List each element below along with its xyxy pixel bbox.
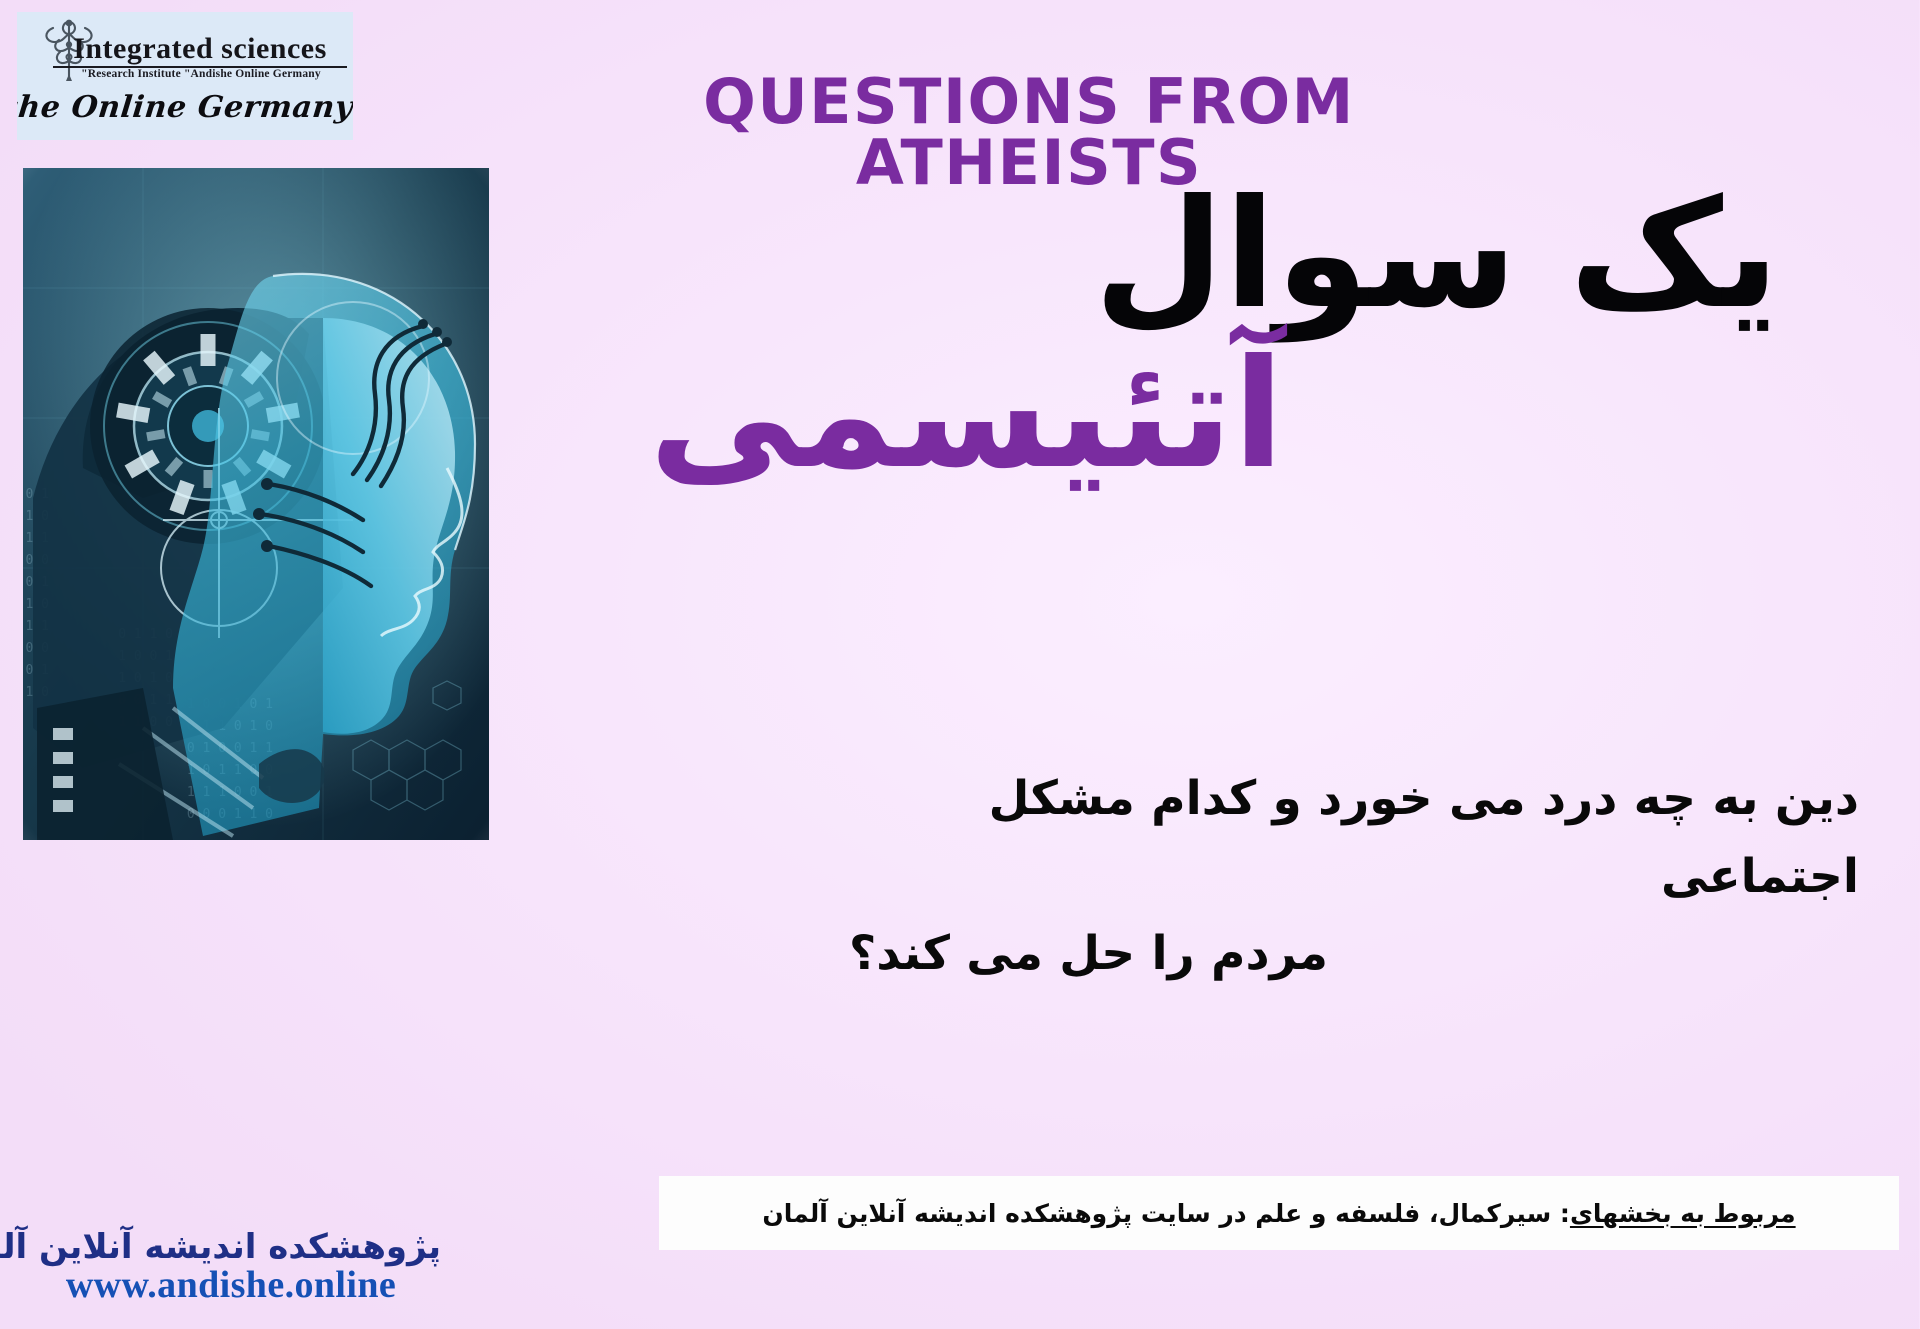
title-persian-primary: یک سوال xyxy=(1095,180,1875,330)
logo-script-wordmark: Andishe Online Germany xyxy=(18,90,354,125)
poster-canvas: Integrated sciences Research Institute "… xyxy=(0,0,1920,1329)
question-line-2: مردم را حل می کند؟ xyxy=(850,915,1860,993)
question-line-1: دین به چه درد می خورد و کدام مشکل اجتماع… xyxy=(850,760,1860,915)
logo-subtitle: Research Institute "Andishe Online Germa… xyxy=(54,68,350,80)
robot-head-svg: 1 0 0 1 00 1 1 0 1 1 1 0 0 00 0 1 1 0 1 … xyxy=(24,168,490,840)
caption-bar: مربوط به بخشهای: سیرکمال، فلسفه و علم در… xyxy=(660,1176,1900,1250)
caption-prefix: مربوط به بخشهای xyxy=(1571,1199,1797,1228)
caption-text: مربوط به بخشهای: سیرکمال، فلسفه و علم در… xyxy=(763,1199,1796,1228)
logo-box: Integrated sciences Research Institute "… xyxy=(18,12,354,140)
question-body: دین به چه درد می خورد و کدام مشکل اجتماع… xyxy=(850,760,1860,993)
footer-organization: پژوهشکده اندیشه آنلاین آلمان xyxy=(22,1228,442,1266)
title-persian-secondary: آتئیسمی xyxy=(650,340,1550,490)
logo-row: Integrated sciences Research Institute "… xyxy=(18,12,354,84)
footer-website-url[interactable]: www.andishe.online xyxy=(22,1266,442,1306)
caption-rest: : سیرکمال، فلسفه و علم در سایت پژوهشکده … xyxy=(763,1199,1571,1228)
robot-head-illustration: 1 0 0 1 00 1 1 0 1 1 1 0 0 00 0 1 1 0 1 … xyxy=(24,168,490,840)
footer: پژوهشکده اندیشه آنلاین آلمان www.andishe… xyxy=(22,1228,442,1306)
logo-title: Integrated sciences xyxy=(54,34,348,68)
robot-image-inner: 1 0 0 1 00 1 1 0 1 1 1 0 0 00 0 1 1 0 1 … xyxy=(24,168,490,840)
